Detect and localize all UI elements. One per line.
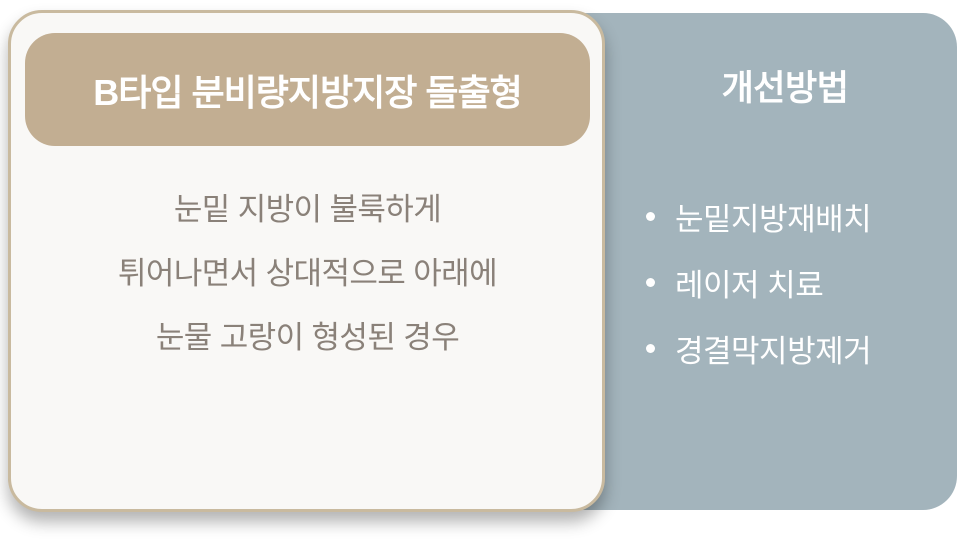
description-line: 눈물 고랑이 형성된 경우: [25, 306, 590, 370]
method-label: 레이저 치료: [675, 260, 823, 305]
infographic-root: 개선방법 눈밑지방재배치 레이저 치료 경결막지방제거 B타입 분비량지방: [0, 0, 957, 548]
list-item: 눈밑지방재배치: [637, 183, 957, 249]
method-label: 경결막지방제거: [675, 326, 871, 371]
methods-list: 눈밑지방재배치 레이저 치료 경결막지방제거: [637, 183, 957, 381]
methods-panel-title: 개선방법: [613, 70, 957, 109]
method-label: 눈밑지방재배치: [675, 194, 871, 239]
description-line: 눈밑 지방이 불룩하게: [25, 178, 590, 242]
bullet-dot-icon: [646, 344, 655, 353]
list-item: 레이저 치료: [637, 249, 957, 315]
type-card-header: B타입 분비량지방지장 돌출형: [25, 33, 590, 146]
list-item: 경결막지방제거: [637, 315, 957, 381]
type-card-description: 눈밑 지방이 불룩하게 튀어나면서 상대적으로 아래에 눈물 고랑이 형성된 경…: [25, 178, 590, 370]
methods-panel-content: 개선방법 눈밑지방재배치 레이저 치료 경결막지방제거: [613, 13, 957, 510]
type-card-title: B타입 분비량지방지장 돌출형: [93, 64, 521, 116]
description-line: 튀어나면서 상대적으로 아래에: [25, 242, 590, 306]
bullet-dot-icon: [646, 278, 655, 287]
bullet-dot-icon: [646, 212, 655, 221]
type-card: B타입 분비량지방지장 돌출형 눈밑 지방이 불룩하게 튀어나면서 상대적으로 …: [8, 10, 605, 512]
